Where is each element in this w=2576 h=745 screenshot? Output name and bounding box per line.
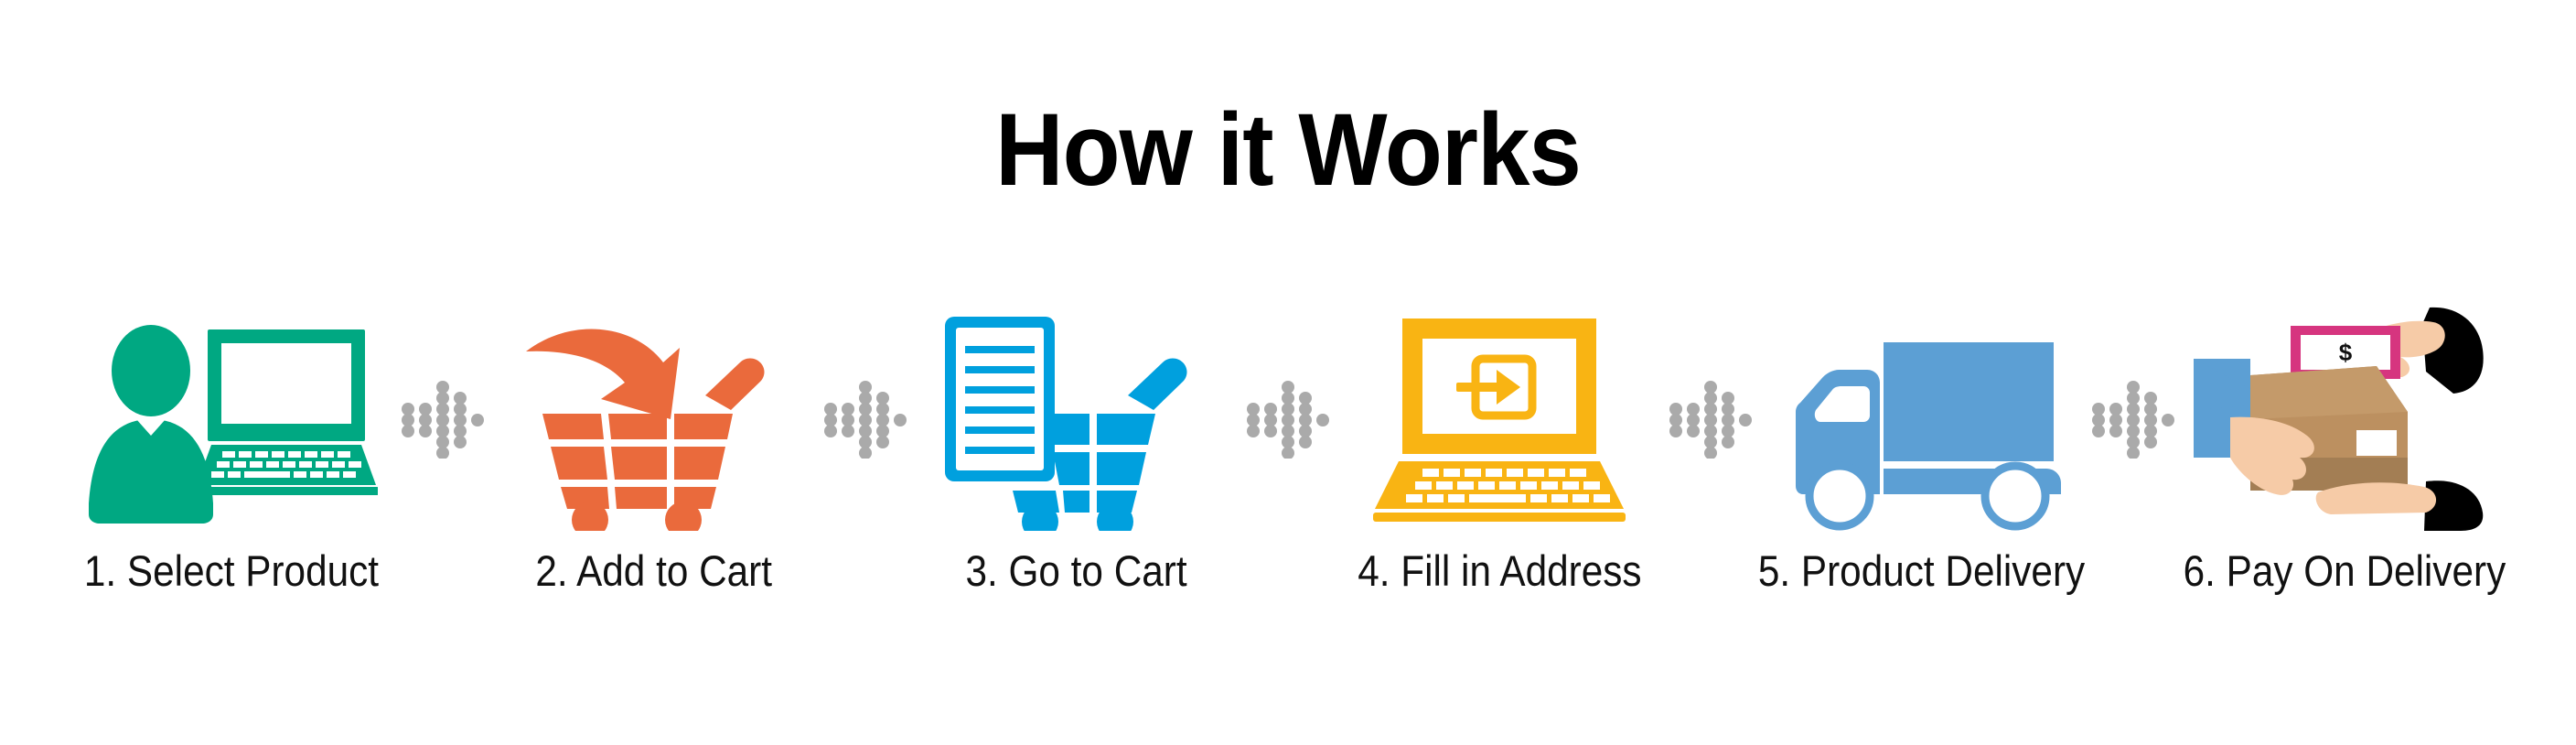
cart-with-curved-arrow-icon xyxy=(499,302,810,531)
steps-row: 1. Select Product xyxy=(0,302,2576,604)
box-shipping-label xyxy=(2356,430,2397,456)
delivery-truck-icon xyxy=(1766,302,2077,531)
dotted-arrow-right-icon xyxy=(1669,302,1753,531)
step-product-delivery[interactable]: 5. Product Delivery xyxy=(1753,302,2091,596)
person-with-laptop-icon xyxy=(76,302,387,531)
dotted-arrow-right-icon xyxy=(1246,302,1330,531)
page-title: How it Works xyxy=(103,99,2474,201)
dotted-arrow-right-icon xyxy=(401,302,485,531)
step-add-to-cart[interactable]: 2. Add to Cart xyxy=(485,302,823,596)
infographic-page: How it Works xyxy=(0,0,2576,745)
hands-exchanging-box-and-cash-icon: $ xyxy=(2189,302,2500,531)
step-select-product[interactable]: 1. Select Product xyxy=(62,302,401,596)
step-label: 2. Add to Cart xyxy=(536,545,773,596)
dotted-arrow-right-icon xyxy=(2091,302,2175,531)
step-label: 6. Pay On Delivery xyxy=(2184,545,2506,596)
step-fill-in-address[interactable]: 4. Fill in Address xyxy=(1330,302,1669,596)
step-go-to-cart[interactable]: 3. Go to Cart xyxy=(907,302,1246,596)
step-label: 5. Product Delivery xyxy=(1758,545,2085,596)
step-label: 3. Go to Cart xyxy=(966,545,1187,596)
document-with-cart-icon xyxy=(921,302,1232,531)
dotted-arrow-right-icon xyxy=(823,302,907,531)
step-label: 4. Fill in Address xyxy=(1358,545,1641,596)
laptop-with-login-arrow-icon xyxy=(1344,302,1655,531)
svg-text:$: $ xyxy=(2339,339,2353,366)
step-label: 1. Select Product xyxy=(84,545,379,596)
step-pay-on-delivery[interactable]: $ xyxy=(2175,302,2514,596)
